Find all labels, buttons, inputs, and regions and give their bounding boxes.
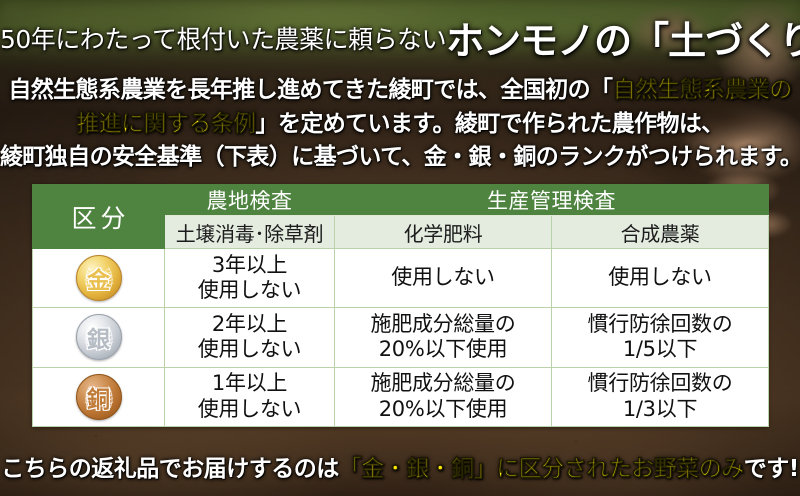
intro-line-1-highlight: 自然生態系農業の bbox=[612, 77, 791, 103]
bronze-medal-icon: 銅 bbox=[76, 374, 122, 420]
table-row: 銀 2年以上 使用しない 施肥成分総量の 20%以下使用 慣行防徐回数の 1/5… bbox=[33, 308, 769, 367]
cell-fertilizer-bronze: 施肥成分総量の 20%以下使用 bbox=[335, 367, 552, 426]
intro-line-3: 綾町独自の安全基準（下表）に基づいて、金・銀・銅のランクがつけられます。 bbox=[0, 141, 800, 175]
intro-line-1: 自然生態系農業を長年推し進めてきた綾町では、全国初の「自然生態系農業の bbox=[0, 74, 800, 108]
headline-line: 50年にわたって根付いた農薬に頼らないホンモノの「土づくり」 bbox=[0, 22, 800, 60]
standards-table-wrapper: 区分 農地検査 生産管理検査 土壌消毒･除草剤 化学肥料 合成農薬 bbox=[32, 184, 768, 427]
footer-pre: こちらの返礼品でお届けするのは bbox=[1, 456, 339, 482]
standards-table: 区分 農地検査 生産管理検査 土壌消毒･除草剤 化学肥料 合成農薬 bbox=[32, 184, 769, 427]
intro-line-2: 推進に関する条例」を定めています。綾町で作られた農作物は、 bbox=[0, 108, 800, 142]
promo-banner: 50年にわたって根付いた農薬に頼らないホンモノの「土づくり」 自然生態系農業を長… bbox=[0, 0, 800, 496]
column-header-kubun: 区分 bbox=[33, 185, 165, 249]
table-header-row-groups: 区分 農地検査 生産管理検査 bbox=[33, 185, 769, 216]
cell-pesticide-gold: 使用しない bbox=[552, 249, 769, 308]
headline-emphasis: ホンモノの「土づくり」 bbox=[446, 19, 800, 63]
rank-cell-silver: 銀 bbox=[33, 308, 165, 367]
footer-note: こちらの返礼品でお届けするのは「金・銀・銅」に区分されたお野菜のみです! bbox=[0, 449, 800, 483]
rank-cell-bronze: 銅 bbox=[33, 367, 165, 426]
rank-glyph: 銀 bbox=[77, 315, 121, 359]
headline-lead: 50年にわたって根付いた農薬に頼らない bbox=[0, 25, 446, 54]
column-group-farmland-inspection: 農地検査 bbox=[165, 185, 335, 216]
intro-line-2-highlight: 推進に関する条例 bbox=[76, 111, 255, 137]
cell-fertilizer-gold: 使用しない bbox=[335, 249, 552, 308]
cell-pesticide-silver: 慣行防徐回数の 1/5以下 bbox=[552, 308, 769, 367]
cell-soil-silver: 2年以上 使用しない bbox=[165, 308, 335, 367]
table-row: 銅 1年以上 使用しない 施肥成分総量の 20%以下使用 慣行防徐回数の 1/3… bbox=[33, 367, 769, 426]
cell-pesticide-bronze: 慣行防徐回数の 1/3以下 bbox=[552, 367, 769, 426]
table-row: 金 3年以上 使用しない 使用しない 使用しない bbox=[33, 249, 769, 308]
intro-paragraph: 自然生態系農業を長年推し進めてきた綾町では、全国初の「自然生態系農業の 推進に関… bbox=[0, 74, 800, 175]
table-head: 区分 農地検査 生産管理検査 土壌消毒･除草剤 化学肥料 合成農薬 bbox=[33, 185, 769, 249]
column-header-synthetic-pesticide: 合成農薬 bbox=[552, 216, 769, 249]
intro-line-2-post: 」を定めています。綾町で作られた農作物は、 bbox=[256, 111, 724, 137]
cell-soil-gold: 3年以上 使用しない bbox=[165, 249, 335, 308]
cell-fertilizer-silver: 施肥成分総量の 20%以下使用 bbox=[335, 308, 552, 367]
gold-medal-icon: 金 bbox=[76, 255, 122, 301]
headline-block: 50年にわたって根付いた農薬に頼らないホンモノの「土づくり」 自然生態系農業を長… bbox=[0, 0, 800, 175]
column-header-soil-disinfection-herbicide: 土壌消毒･除草剤 bbox=[165, 216, 335, 249]
footer-post: です! bbox=[744, 456, 799, 482]
column-group-production-management: 生産管理検査 bbox=[335, 185, 769, 216]
cell-soil-bronze: 1年以上 使用しない bbox=[165, 367, 335, 426]
rank-glyph: 銅 bbox=[77, 375, 121, 419]
rank-cell-gold: 金 bbox=[33, 249, 165, 308]
rank-glyph: 金 bbox=[77, 256, 121, 300]
column-header-chemical-fertilizer: 化学肥料 bbox=[335, 216, 552, 249]
silver-medal-icon: 銀 bbox=[76, 314, 122, 360]
table-body: 金 3年以上 使用しない 使用しない 使用しない bbox=[33, 249, 769, 427]
footer-highlight: 「金・銀・銅」に区分されたお野菜のみ bbox=[339, 456, 744, 482]
intro-line-1-pre: 自然生態系農業を長年推し進めてきた綾町では、全国初の「 bbox=[8, 77, 612, 103]
